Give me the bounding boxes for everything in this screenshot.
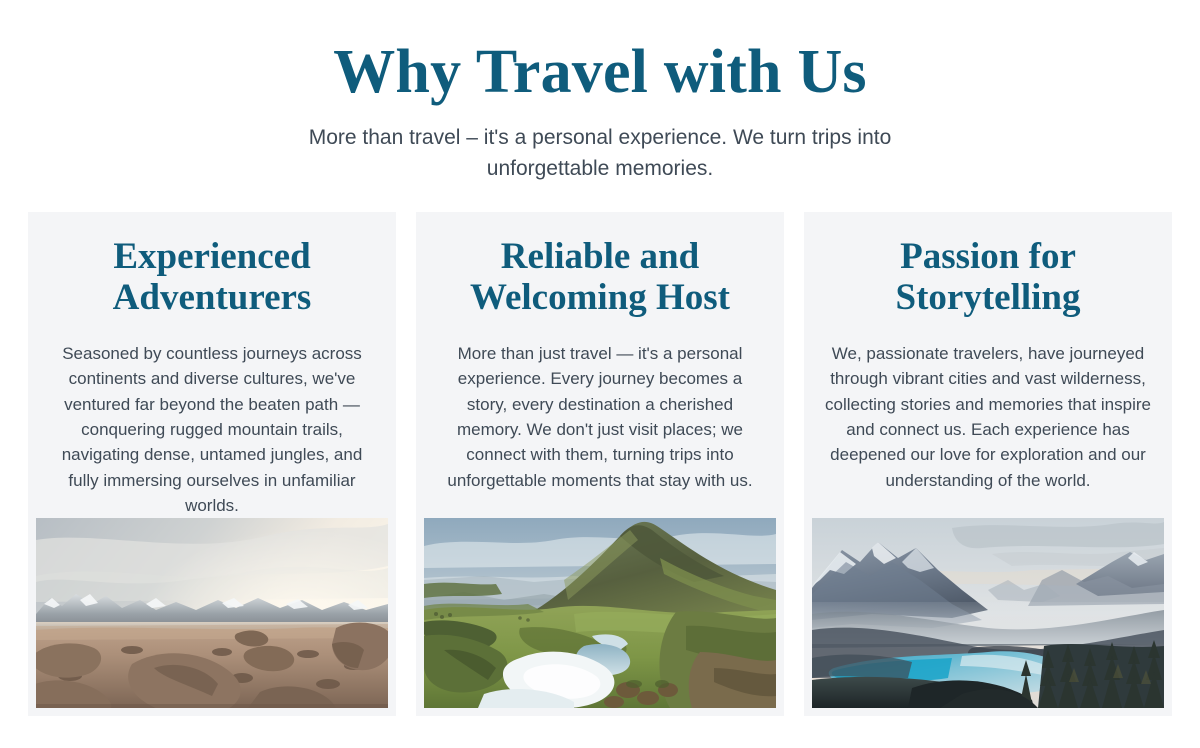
desert-plain-with-snowy-mountains-image (36, 518, 388, 708)
card-body-text: Seasoned by countless journeys across co… (48, 341, 376, 518)
card-body-text: We, passionate travelers, have journeyed… (824, 341, 1152, 493)
section-header: Why Travel with Us More than travel – it… (0, 0, 1200, 184)
why-travel-section: Why Travel with Us More than travel – it… (0, 0, 1200, 748)
card-body-text: More than just travel — it's a personal … (436, 341, 764, 493)
feature-card-reliable-and-welcoming-host[interactable]: Reliable and Welcoming Host More than ju… (416, 212, 784, 716)
page-title: Why Travel with Us (0, 38, 1200, 107)
feature-card-passion-for-storytelling[interactable]: Passion for Storytelling We, passionate … (804, 212, 1172, 716)
card-title: Experienced Adventurers (48, 236, 376, 319)
page-subtitle: More than travel – it's a personal exper… (270, 123, 930, 184)
card-content: Experienced Adventurers Seasoned by coun… (36, 220, 388, 518)
feature-card-grid: Experienced Adventurers Seasoned by coun… (28, 212, 1172, 716)
card-title: Reliable and Welcoming Host (436, 236, 764, 319)
turquoise-alpine-lake-image (812, 518, 1164, 708)
card-content: Passion for Storytelling We, passionate … (812, 220, 1164, 493)
card-title: Passion for Storytelling (824, 236, 1152, 319)
feature-card-experienced-adventurers[interactable]: Experienced Adventurers Seasoned by coun… (28, 212, 396, 716)
green-valley-with-river-image (424, 518, 776, 708)
card-content: Reliable and Welcoming Host More than ju… (424, 220, 776, 493)
